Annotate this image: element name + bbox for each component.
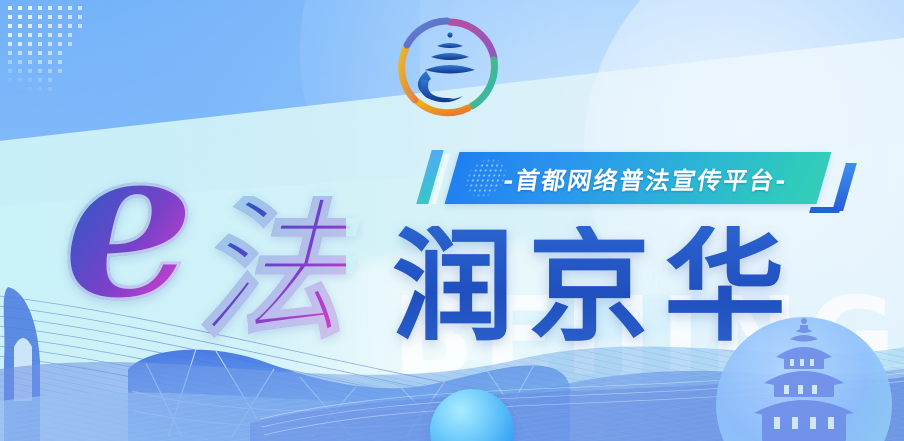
temple-of-heaven-silhouette (740, 313, 868, 441)
banner-image: BEIJING (0, 0, 904, 441)
slogan-text: -首都网络普法宣传平台- (448, 152, 828, 204)
dot-matrix-decoration (8, 6, 88, 156)
banner-right-stripe-foot (809, 207, 841, 213)
slogan-banner: -首都网络普法宣传平台- (452, 152, 824, 204)
e-ring-logo (390, 8, 510, 126)
